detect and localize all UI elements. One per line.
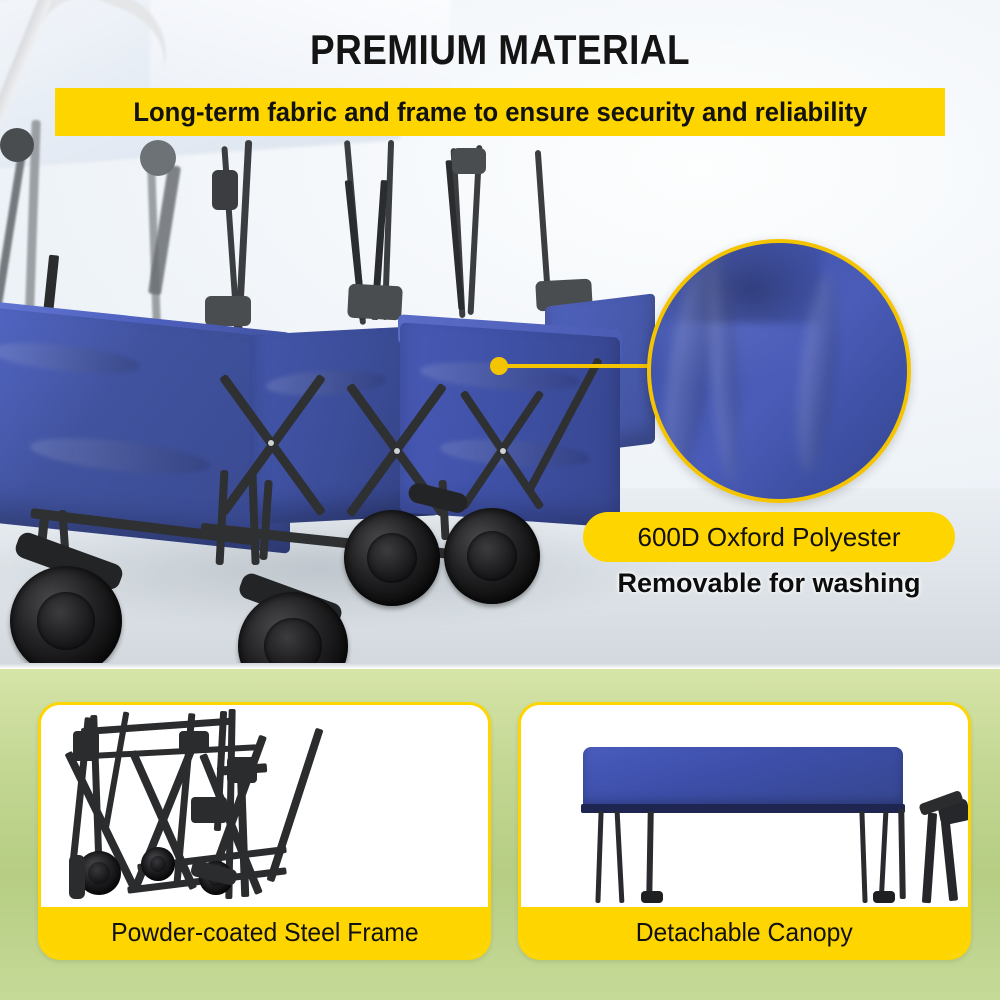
section-divider xyxy=(0,663,1000,668)
subtitle-text: Long-term fabric and frame to ensure sec… xyxy=(133,97,867,128)
feature-card-caption: Detachable Canopy xyxy=(521,907,968,957)
callout-connector-line xyxy=(498,364,650,368)
frame-hinge xyxy=(205,296,251,326)
frame-hinge xyxy=(212,170,238,210)
hero-section: PREMIUM MATERIAL Long-term fabric and fr… xyxy=(0,0,1000,668)
material-pill-label: 600D Oxford Polyester xyxy=(637,522,900,553)
feature-card-caption-label: Detachable Canopy xyxy=(636,917,853,948)
frame-hinge xyxy=(452,148,486,174)
feature-card-canopy[interactable]: Detachable Canopy xyxy=(518,702,971,960)
feature-card-list: Powder-coated Steel Frame xyxy=(0,669,1000,1000)
feature-card-caption-label: Powder-coated Steel Frame xyxy=(111,917,419,948)
callout-anchor-dot xyxy=(490,357,508,375)
wagon-wheel xyxy=(444,508,540,604)
canopy-hinge xyxy=(0,128,34,162)
steel-frame-photo xyxy=(41,705,488,907)
fabric-zoom-circle xyxy=(647,239,911,503)
wagon-wheel xyxy=(10,566,122,668)
features-section: Powder-coated Steel Frame xyxy=(0,669,1000,1000)
canopy-hem xyxy=(581,804,905,813)
page-title: PREMIUM MATERIAL xyxy=(60,26,940,74)
canopy-fabric xyxy=(583,747,903,807)
canopy-photo xyxy=(521,705,968,907)
wagon-wheel xyxy=(344,510,440,606)
frame-post xyxy=(535,150,551,300)
material-pill-badge: 600D Oxford Polyester xyxy=(583,512,955,562)
washing-note: Removable for washing xyxy=(583,568,955,599)
frame-hinge xyxy=(347,284,403,321)
subtitle-banner: Long-term fabric and frame to ensure sec… xyxy=(55,88,945,136)
feature-card-caption: Powder-coated Steel Frame xyxy=(41,907,488,957)
feature-card-steel-frame[interactable]: Powder-coated Steel Frame xyxy=(38,702,491,960)
product-feature-page: PREMIUM MATERIAL Long-term fabric and fr… xyxy=(0,0,1000,1000)
